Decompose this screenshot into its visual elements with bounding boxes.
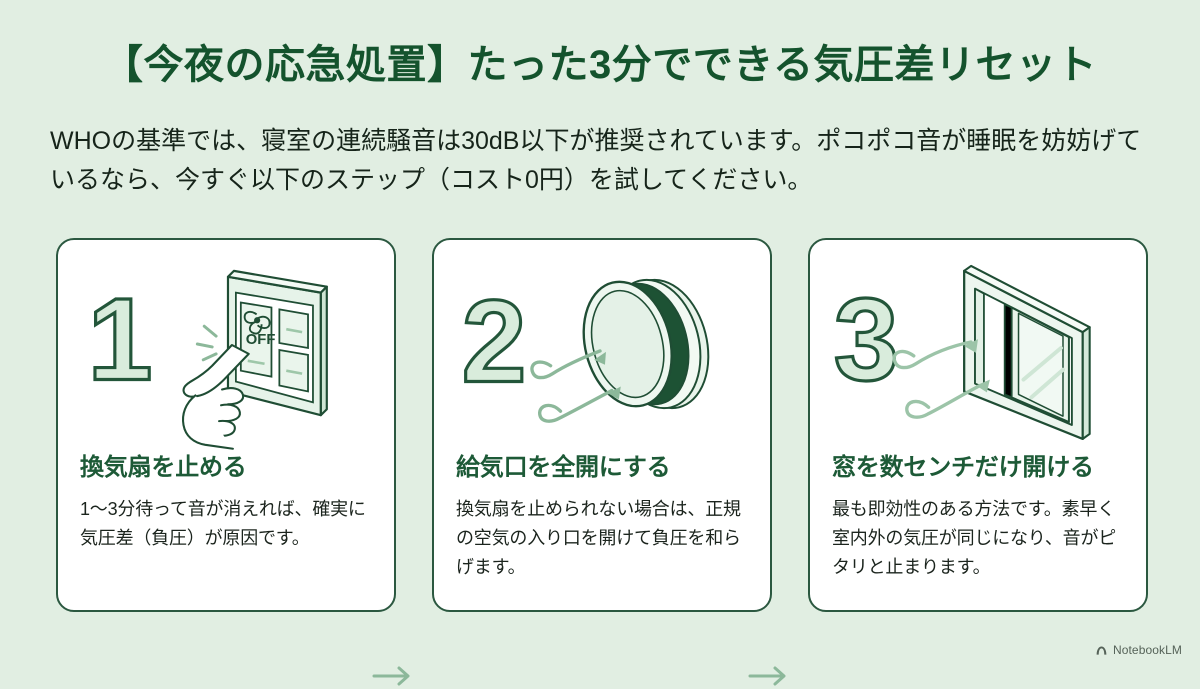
notebooklm-label: NotebookLM [1113,643,1182,657]
step-2-number-glyph: 2 [462,276,527,407]
page-subtitle: WHOの基準では、寝室の連続騒音は30dB以下が推奨されています。ポコポコ音が睡… [50,122,1160,200]
page-title: 【今夜の応急処置】たった3分でできる気圧差リセット [0,42,1200,88]
step-2-illustration: 2 [434,240,770,450]
notebooklm-watermark: NotebookLM [1095,643,1182,657]
step-1-heading: 換気扇を止める [80,454,376,483]
step-1-body: 換気扇を止める 1〜3分待って音が消えれば、確実に気圧差（負圧）が原因です。 [80,454,376,553]
air-vent-graphic [571,270,721,418]
arrow-step1-to-step2 [372,663,418,689]
tap-spark-lines [197,326,216,360]
step-3-number-glyph: 3 [834,274,899,405]
step-card-3: 3 [808,238,1148,612]
notebooklm-icon [1095,644,1108,657]
arrow-step2-to-step3 [748,663,794,689]
step-3-text: 最も即効性のある方法です。素早く室内外の気圧が同じになり、音がピタリと止まります… [832,495,1128,582]
window-graphic [964,266,1090,439]
step-2-text: 換気扇を止められない場合は、正規の空気の入り口を開けて負圧を和らげます。 [456,495,752,582]
step-card-1: 1 [56,238,396,612]
step-1-illustration: 1 [58,240,394,450]
switch-off-label: OFF [246,332,276,348]
step-1-number-glyph: 1 [88,274,153,405]
pointing-hand [183,345,249,449]
step-2-body: 給気口を全開にする 換気扇を止められない場合は、正規の空気の入り口を開けて負圧を… [456,454,752,582]
infographic-page: 【今夜の応急処置】たった3分でできる気圧差リセット WHOの基準では、寝室の連続… [0,0,1200,669]
step-card-2: 2 [432,238,772,612]
step-2-heading: 給気口を全開にする [456,454,752,483]
step-3-illustration: 3 [810,240,1146,450]
step-1-text: 1〜3分待って音が消えれば、確実に気圧差（負圧）が原因です。 [80,495,376,553]
steps-row: 1 [0,238,1200,616]
step-3-heading: 窓を数センチだけ開ける [832,454,1128,483]
step-3-body: 窓を数センチだけ開ける 最も即効性のある方法です。素早く室内外の気圧が同じになり… [832,454,1128,582]
